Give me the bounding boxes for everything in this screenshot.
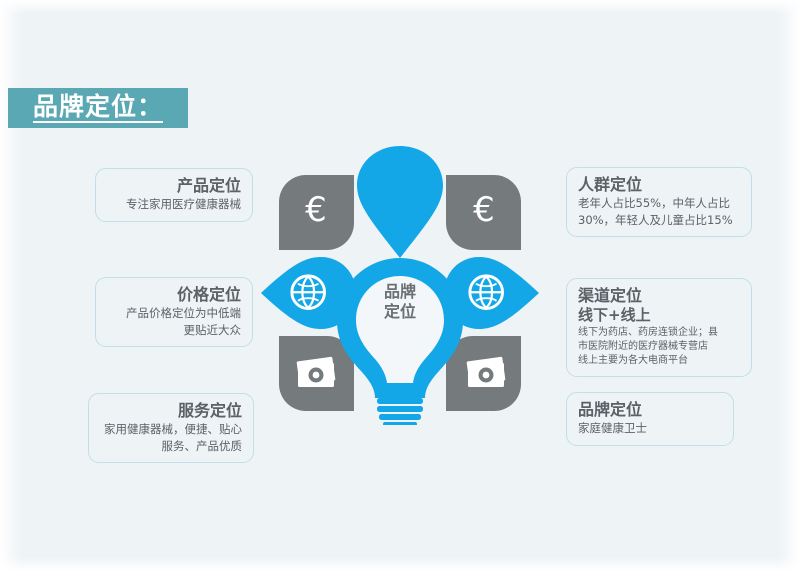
card-body-line: 线下为药店、药房连锁企业；县 <box>578 326 740 340</box>
card-title: 产品定位 <box>107 176 241 196</box>
card-body-line: 专注家用医疗健康器械 <box>107 196 241 213</box>
lightbulb-icon <box>337 258 463 425</box>
card-body-line: 30%，年轻人及儿童占比15% <box>578 212 740 229</box>
card-title: 渠道定位 <box>578 286 740 306</box>
card-audience-positioning[interactable]: 人群定位 老年人占比55%，中年人占比 30%，年轻人及儿童占比15% <box>566 167 752 237</box>
petal-top-left-icon: € <box>279 175 354 250</box>
lightbulb-diagram: € € <box>255 140 545 425</box>
banknote-icon <box>297 357 336 387</box>
card-body-line: 家庭健康卫士 <box>578 420 722 437</box>
page-title: 品牌定位： <box>33 94 163 123</box>
card-title: 价格定位 <box>107 285 241 305</box>
slide-canvas: 品牌定位： 产品定位 专注家用医疗健康器械 价格定位 产品价格定位为中低端 更贴… <box>0 0 800 571</box>
card-body-line: 老年人占比55%，中年人占比 <box>578 195 740 212</box>
card-subtitle: 线下+线上 <box>578 306 740 326</box>
card-channel-positioning[interactable]: 渠道定位 线下+线上 线下为药店、药房连锁企业；县 市医院附近的医疗器械专营店 … <box>566 278 752 377</box>
card-service-positioning[interactable]: 服务定位 家用健康器械，便捷、贴心 服务、产品优质 <box>88 393 254 463</box>
card-body-line: 服务、产品优质 <box>100 438 242 455</box>
card-body-line: 线上主要为各大电商平台 <box>578 354 740 368</box>
petal-top-right-icon: € <box>446 175 521 250</box>
card-product-positioning[interactable]: 产品定位 专注家用医疗健康器械 <box>95 168 253 222</box>
page-title-banner: 品牌定位： <box>8 88 188 128</box>
euro-icon: € <box>473 190 495 230</box>
card-body-line: 市医院附近的医疗器械专营店 <box>578 340 740 354</box>
banknote-icon <box>467 357 506 387</box>
petal-bottom-left-icon <box>279 336 354 411</box>
card-brand-positioning[interactable]: 品牌定位 家庭健康卫士 <box>566 392 734 446</box>
card-title: 服务定位 <box>100 401 242 421</box>
petal-top-icon <box>357 146 443 258</box>
card-title: 品牌定位 <box>578 400 722 420</box>
euro-icon: € <box>305 190 327 230</box>
card-body-line: 产品价格定位为中低端 <box>107 305 241 322</box>
card-title: 人群定位 <box>578 175 740 195</box>
card-body-line: 家用健康器械，便捷、贴心 <box>100 421 242 438</box>
petal-bottom-right-icon <box>446 336 521 411</box>
card-body-line: 更贴近大众 <box>107 322 241 339</box>
card-price-positioning[interactable]: 价格定位 产品价格定位为中低端 更贴近大众 <box>95 277 253 347</box>
